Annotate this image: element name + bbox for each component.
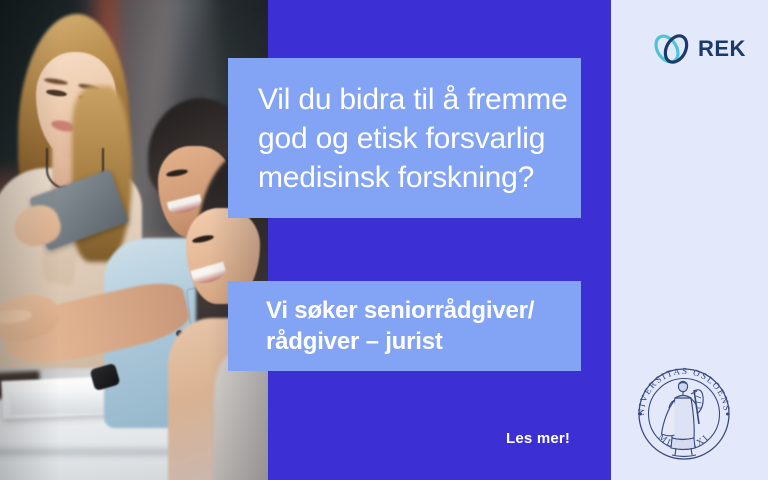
job-title-box: Vi søker seniorrådgiver/ rådgiver – juri… bbox=[228, 281, 581, 371]
interlocking-rings-icon bbox=[650, 27, 694, 71]
job-title-text: Vi søker seniorrådgiver/ rådgiver – juri… bbox=[228, 295, 544, 357]
rek-wordmark: REK bbox=[698, 38, 746, 60]
headline-text: Vil du bidra til å fremme god og etisk f… bbox=[228, 80, 580, 197]
job-advert-banner: Vil du bidra til å fremme god og etisk f… bbox=[0, 0, 768, 480]
uio-seal: UNIVERSITAS OSLOENSIS MDCCCXI bbox=[630, 360, 738, 468]
read-more-button[interactable]: Les mer! bbox=[506, 430, 570, 447]
rek-logo[interactable]: REK bbox=[650, 27, 742, 71]
headline-box: Vil du bidra til å fremme god og etisk f… bbox=[228, 58, 581, 218]
